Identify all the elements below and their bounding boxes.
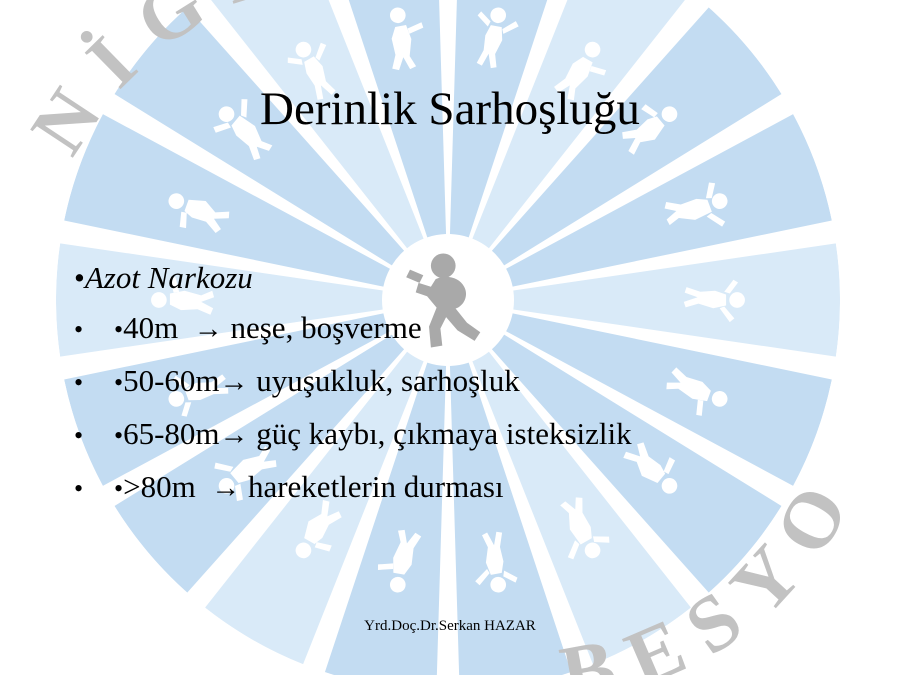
depth-value: >80m: [123, 469, 196, 504]
slide-footer-author: Yrd.Doç.Dr.Serkan HAZAR: [0, 618, 900, 635]
arrow-icon: →: [194, 313, 223, 345]
list-item: ••50-60m→ uyuşukluk, sarhoşluk: [66, 365, 866, 397]
depth-value: 40m: [123, 310, 178, 345]
slide-content: Derinlik Sarhoşluğu •Azot Narkozu ••40m …: [0, 0, 900, 675]
sub-bullet-glyph: •: [114, 421, 123, 450]
list-item-label: Azot Narkozu: [85, 260, 253, 295]
list-item-label: hareketlerin durması: [248, 469, 504, 504]
sub-bullet-glyph: •: [114, 368, 123, 397]
list-item: ••65-80m→ güç kaybı, çıkmaya isteksizlik: [66, 418, 866, 450]
arrow-icon: →: [220, 419, 249, 451]
presentation-slide: NİĞDE BESYO Derinlik Sarhoşluğu •Azot Na…: [0, 0, 900, 675]
list-item-label: neşe, boşverme: [230, 310, 421, 345]
bullet-glyph: •: [74, 423, 114, 449]
list-item-label: uyuşukluk, sarhoşluk: [256, 363, 520, 398]
sub-bullet-glyph: •: [114, 315, 123, 344]
depth-value: 50-60m: [123, 363, 219, 398]
arrow-icon: →: [211, 472, 240, 504]
bullet-glyph: •: [74, 476, 114, 502]
arrow-icon: →: [220, 366, 249, 398]
bullet-glyph: •: [74, 260, 85, 295]
list-item-label: güç kaybı, çıkmaya isteksizlik: [256, 416, 631, 451]
bullet-list: •Azot Narkozu ••40m → neşe, boşverme ••5…: [66, 262, 866, 524]
depth-value: 65-80m: [123, 416, 219, 451]
bullet-glyph: •: [74, 317, 114, 343]
page-title: Derinlik Sarhoşluğu: [0, 85, 900, 134]
bullet-glyph: •: [74, 370, 114, 396]
list-item: •Azot Narkozu: [66, 262, 866, 293]
list-item: ••>80m → hareketlerin durması: [66, 471, 866, 503]
sub-bullet-glyph: •: [114, 474, 123, 503]
list-item: ••40m → neşe, boşverme: [66, 312, 866, 344]
